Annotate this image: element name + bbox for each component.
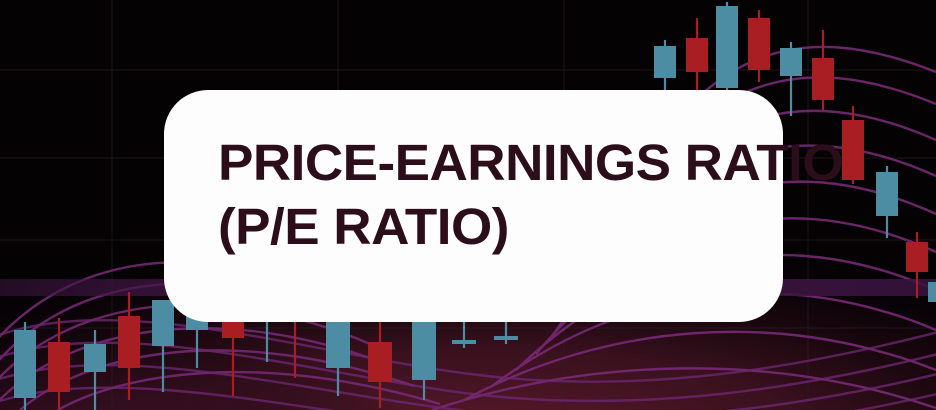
candle-body	[654, 46, 676, 78]
candle-body	[118, 316, 140, 368]
banner-canvas: PRICE-EARNINGS RATIO (P/E RATIO)	[0, 0, 936, 410]
candle-body	[906, 242, 928, 272]
candle-body	[412, 314, 436, 380]
candle-body	[686, 38, 708, 72]
candle-body	[928, 282, 936, 302]
candle	[14, 322, 36, 410]
candle-body	[842, 120, 864, 180]
candle-body	[780, 48, 802, 76]
candle-body	[326, 314, 350, 368]
page-title-line-2: (P/E RATIO)	[218, 198, 780, 256]
candle-body	[152, 300, 174, 346]
candle-body	[748, 18, 770, 70]
candle-body	[368, 342, 392, 382]
title-block: PRICE-EARNINGS RATIO (P/E RATIO)	[218, 134, 758, 256]
candle-body	[876, 172, 898, 216]
candle-body	[494, 336, 518, 340]
title-card: PRICE-EARNINGS RATIO (P/E RATIO)	[164, 90, 783, 322]
candle-body	[716, 6, 738, 88]
candle-body	[452, 340, 476, 344]
candle-body	[84, 344, 106, 372]
candle-body	[48, 342, 70, 392]
page-title-line-1: PRICE-EARNINGS RATIO	[218, 134, 780, 192]
candle-body	[14, 330, 36, 398]
candle-body	[812, 58, 834, 100]
